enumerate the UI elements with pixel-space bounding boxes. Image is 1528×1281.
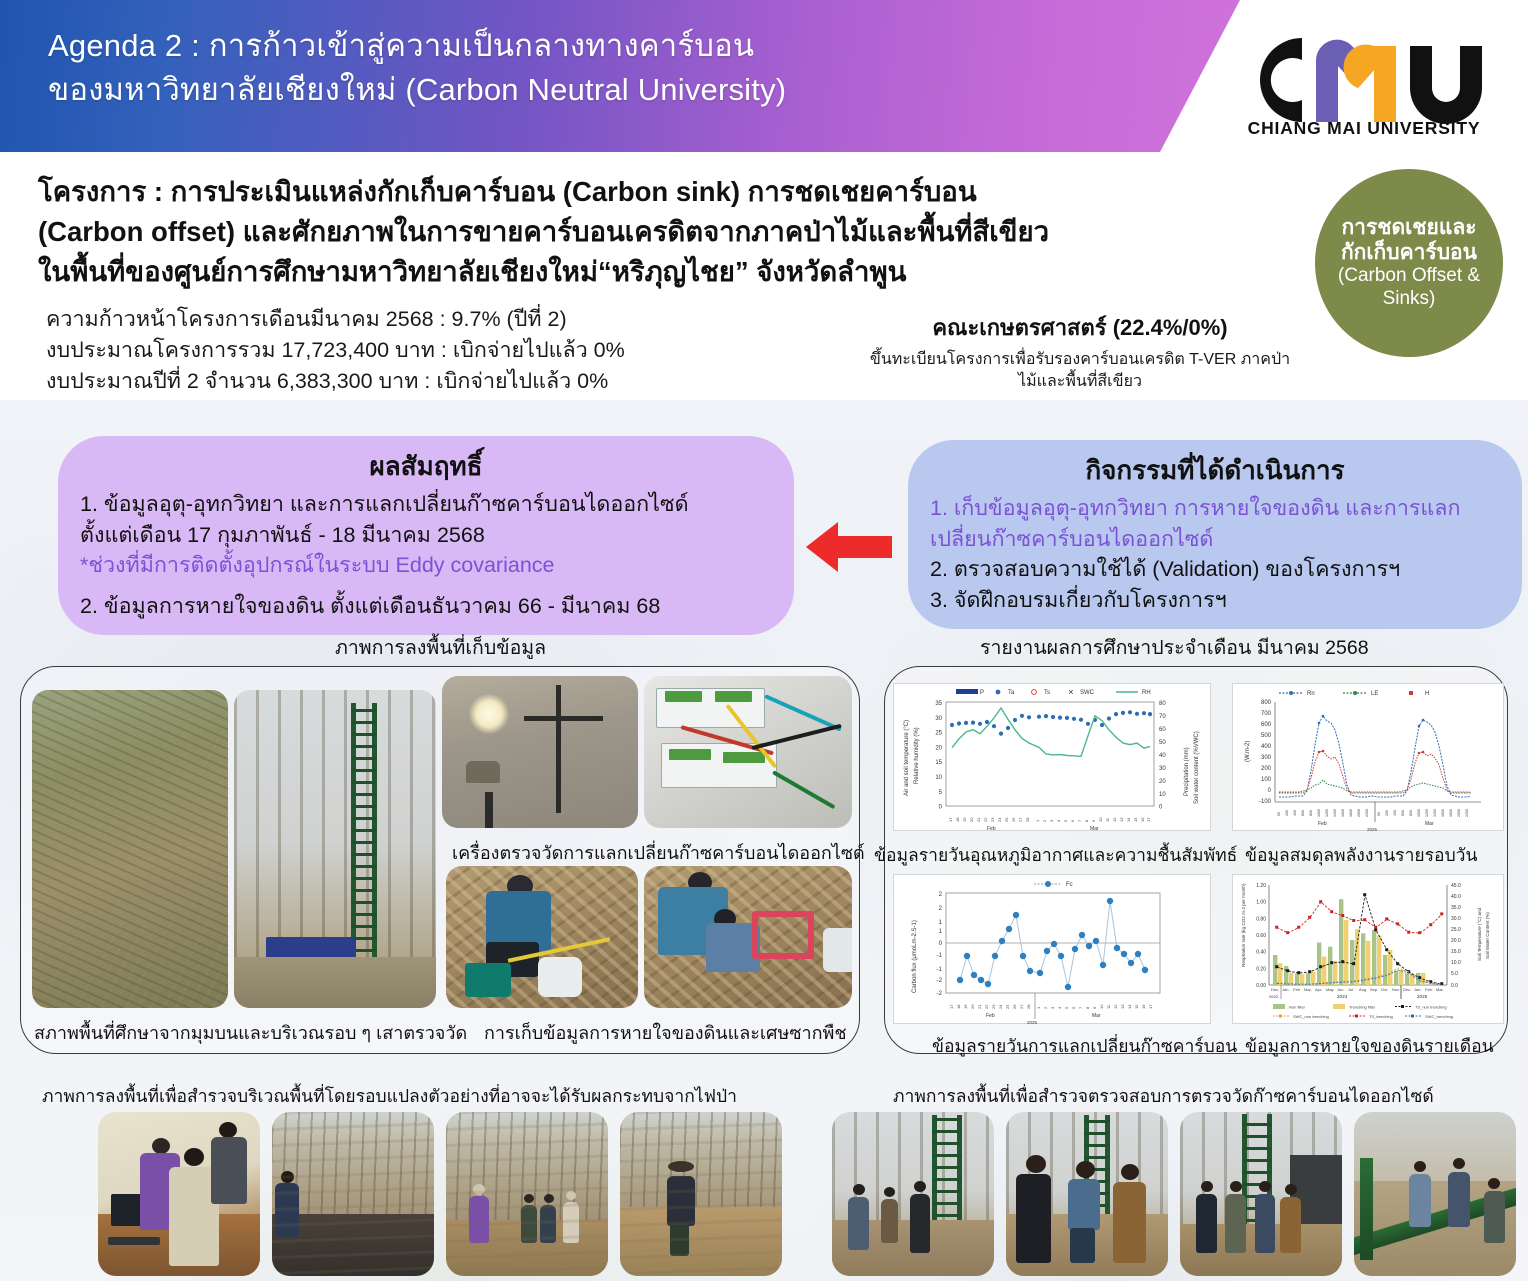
svg-text:2: 2 — [1042, 819, 1047, 822]
figure-legs — [670, 1224, 689, 1256]
photo-forest-walk — [620, 1112, 782, 1276]
svg-text:28: 28 — [1026, 1004, 1031, 1009]
svg-text:21: 21 — [976, 817, 981, 822]
figure-head — [219, 1122, 237, 1138]
activity-box: กิจกรรมที่ได้ดำเนินการ 1. เก็บข้อมูลอุตุ… — [908, 440, 1522, 629]
sensor-pole-shape — [556, 685, 561, 813]
sensor-post-shape — [485, 792, 493, 828]
badge-th-line2: กักเก็บคาร์บอน — [1341, 240, 1477, 265]
faculty-block: คณะเกษตรศาสตร์ (22.4%/0%) ขึ้นทะเบียนโคร… — [830, 310, 1330, 394]
project-total-budget: งบประมาณโครงการรวม 17,723,400 บาท : เบิก… — [46, 335, 866, 366]
activity-line1: 1. เก็บข้อมูลอุตุ-อุทกวิทยา การหายใจของด… — [930, 493, 1500, 524]
svg-text:0.00: 0.00 — [1256, 983, 1266, 989]
figure-body — [469, 1196, 489, 1243]
svg-text:14: 14 — [1126, 817, 1131, 822]
results-heading: ผลสัมฤทธิ์ — [80, 446, 772, 487]
svg-text:2025: 2025 — [1027, 1020, 1038, 1025]
page-title-line2: ของมหาวิทยาลัยเชียงใหม่ (Carbon Neutral … — [48, 68, 1128, 112]
wire-green — [772, 771, 835, 810]
svg-text:12: 12 — [1112, 817, 1117, 822]
svg-text:1: 1 — [939, 920, 943, 926]
svg-text:SWC: SWC — [1080, 690, 1095, 696]
svg-text:3: 3 — [1050, 1006, 1055, 1009]
figure-legs — [1070, 1228, 1096, 1263]
page-title: Agenda 2 : การก้าวเข้าสู่ความเป็นกลางทาง… — [48, 24, 1128, 112]
svg-text:Mar: Mar — [1090, 826, 1099, 832]
svg-text:800: 800 — [1309, 810, 1313, 816]
group-figure-d — [1280, 1184, 1303, 1253]
svg-text:100: 100 — [1261, 777, 1272, 783]
svg-text:45.0: 45.0 — [1451, 883, 1461, 889]
bucket-white — [823, 928, 852, 972]
svg-text:20: 20 — [935, 745, 942, 751]
chart-temp-rh-card: P Ta Ts ✕SWC RH 35 30 25 20 15 10 5 0 80… — [893, 683, 1211, 831]
svg-text:-2: -2 — [937, 991, 943, 997]
svg-text:Ts: Ts — [1044, 690, 1050, 696]
svg-text:11: 11 — [1105, 817, 1110, 822]
svg-text:1000: 1000 — [1317, 809, 1321, 817]
figure-head — [1121, 1164, 1139, 1180]
svg-text:20: 20 — [1159, 779, 1166, 785]
svg-text:1400: 1400 — [1333, 809, 1337, 817]
figure-body — [1409, 1174, 1431, 1226]
activity-line2: เปลี่ยนก๊าซคาร์บอนไดออกไซด์ — [930, 524, 1500, 555]
svg-text:35: 35 — [935, 701, 942, 707]
svg-text:Feb.: Feb. — [1425, 987, 1433, 992]
svg-text:12: 12 — [1113, 1004, 1118, 1009]
svg-text:10: 10 — [935, 775, 942, 781]
svg-text:400: 400 — [1293, 810, 1297, 816]
svg-text:Rn: Rn — [1307, 691, 1315, 697]
results-line2: ตั้งแต่เดือน 17 กุมภาพันธ์ - 18 มีนาคม 2… — [80, 520, 772, 551]
terminal-strip-c — [669, 749, 711, 760]
svg-text:22: 22 — [984, 1004, 989, 1009]
surveyor-figure-d — [563, 1191, 581, 1243]
figure-head — [853, 1184, 865, 1195]
svg-text:300: 300 — [1261, 755, 1272, 761]
svg-text:200: 200 — [1385, 810, 1389, 816]
svg-text:Feb: Feb — [1318, 821, 1327, 827]
project-year2-budget: งบประมาณปีที่ 2 จำนวน 6,383,300 บาท : เบ… — [46, 366, 866, 397]
project-progress: ความก้าวหน้าโครงการเดือนมีนาคม 2568 : 9.… — [46, 304, 866, 335]
figure-body — [1280, 1197, 1300, 1253]
figure-backpack — [667, 1176, 695, 1225]
svg-text:-2: -2 — [937, 978, 943, 984]
svg-text:16: 16 — [1140, 817, 1145, 822]
svg-text:May.: May. — [1326, 987, 1334, 992]
carbon-offset-badge: การชดเชยและ กักเก็บคาร์บอน (Carbon Offse… — [1315, 169, 1503, 357]
activity-heading: กิจกรรมที่ได้ดำเนินการ — [930, 450, 1500, 491]
svg-text:10: 10 — [1159, 792, 1166, 798]
terminal-strip-d — [723, 752, 765, 763]
group-figure-c — [1255, 1181, 1278, 1253]
svg-text:400: 400 — [1393, 810, 1397, 816]
svg-text:600: 600 — [1301, 810, 1305, 816]
svg-text:H: H — [1425, 691, 1429, 697]
svg-text:5: 5 — [1064, 1006, 1069, 1009]
svg-text:11: 11 — [1106, 1004, 1111, 1009]
svg-text:Dec.: Dec. — [1271, 987, 1279, 992]
figure-head — [1488, 1178, 1500, 1189]
photo-caption-soil: การเก็บข้อมูลการหายใจของดินและเศษซากพืช — [484, 1018, 847, 1047]
figure-body — [275, 1183, 298, 1237]
svg-text:15: 15 — [1134, 1004, 1139, 1009]
figure-body — [1225, 1194, 1245, 1253]
svg-text:Nov.: Nov. — [1392, 987, 1400, 992]
svg-text:Jun.: Jun. — [1337, 987, 1345, 992]
svg-text:Sep.: Sep. — [1370, 987, 1378, 992]
svg-text:30.0: 30.0 — [1451, 916, 1461, 922]
sun-glow-shape — [469, 694, 509, 734]
svg-text:Soil water content (%VWC): Soil water content (%VWC) — [1194, 731, 1200, 804]
photo-datalogger-cabinet — [644, 676, 852, 828]
results-line4-plain: 2. ข้อมูลการหายใจของดิน ตั้งแต่เดือน — [80, 594, 431, 618]
figure-head — [1285, 1184, 1297, 1195]
svg-text:6: 6 — [1070, 819, 1075, 822]
svg-text:15: 15 — [1133, 817, 1138, 822]
terminal-strip-a — [665, 691, 702, 702]
svg-text:27: 27 — [1018, 817, 1023, 822]
figure-body — [563, 1202, 579, 1243]
svg-text:500: 500 — [1261, 733, 1272, 739]
svg-text:Soil Temperature (°C) and: Soil Temperature (°C) and — [1477, 907, 1482, 961]
svg-text:5: 5 — [1063, 819, 1068, 822]
analyzer-chamber-white — [538, 957, 582, 997]
svg-text:10.0: 10.0 — [1451, 960, 1461, 966]
svg-text:17: 17 — [948, 817, 953, 822]
svg-text:2: 2 — [939, 892, 943, 898]
trainee-figure-3 — [211, 1122, 250, 1204]
svg-text:26: 26 — [1012, 1004, 1017, 1009]
figure-head — [281, 1171, 294, 1183]
svg-text:1.20: 1.20 — [1256, 883, 1266, 889]
visitor-figure-b — [881, 1187, 900, 1243]
photo-burned-forest — [272, 1112, 434, 1276]
svg-text:7: 7 — [1077, 819, 1082, 822]
page-header: Agenda 2 : การก้าวเข้าสู่ความเป็นกลางทาง… — [0, 0, 1528, 152]
svg-text:✕: ✕ — [1068, 690, 1074, 697]
svg-text:30: 30 — [935, 716, 942, 722]
svg-text:13: 13 — [1119, 817, 1124, 822]
figure-head — [914, 1181, 926, 1192]
svg-text:24: 24 — [997, 817, 1002, 822]
project-summary-section: โครงการ : การประเมินแหล่งกักเก็บคาร์บอน … — [0, 152, 1528, 400]
visitor-figure-c — [910, 1181, 933, 1253]
activity-line3: 2. ตรวจสอบความใช้ได้ (Validation) ของโคร… — [930, 554, 1500, 585]
svg-text:200: 200 — [1261, 766, 1272, 772]
svg-text:800: 800 — [1261, 700, 1272, 706]
svg-text:Mar: Mar — [1425, 821, 1434, 827]
svg-text:P: P — [980, 690, 984, 696]
results-line3: *ช่วงที่มีการติดตั้งอุปกรณ์ในระบบ Eddy c… — [80, 550, 772, 581]
svg-text:Soil Water Content (%): Soil Water Content (%) — [1485, 912, 1490, 959]
svg-text:1000: 1000 — [1417, 809, 1421, 817]
svg-text:26: 26 — [1011, 817, 1016, 822]
svg-text:13: 13 — [1120, 1004, 1125, 1009]
activity-line4: 3. จัดฝึกอบรมเกี่ยวกับโครงการฯ — [930, 585, 1500, 616]
figure-head — [1259, 1181, 1271, 1192]
svg-text:1600: 1600 — [1441, 809, 1445, 817]
svg-text:Aug.: Aug. — [1359, 987, 1367, 992]
svg-text:0.40: 0.40 — [1256, 950, 1266, 956]
figure-hat — [668, 1161, 694, 1172]
project-title-line3: ในพื้นที่ของศูนย์การศึกษามหาวิทยาลัยเชีย… — [38, 252, 1300, 292]
svg-text:Trenching filter: Trenching filter — [1349, 1005, 1376, 1010]
chart-caption-carbon-flux: ข้อมูลรายวันการแลกเปลี่ยนก๊าซคาร์บอน — [932, 1032, 1237, 1060]
svg-text:-1: -1 — [937, 967, 943, 973]
visitor-figure-b — [1068, 1161, 1104, 1263]
figure-head — [566, 1191, 576, 1200]
project-title-line2: (Carbon offset) และศักยภาพในการขายคาร์บอ… — [38, 212, 1300, 252]
svg-text:7: 7 — [1078, 1006, 1083, 1009]
svg-text:2: 2 — [939, 906, 943, 912]
figure-head — [1076, 1161, 1095, 1178]
svg-text:10: 10 — [1098, 817, 1103, 822]
chart-carbon-flux-svg: Fc 2 2 1 1 0 -1 -1 -2 -2 Carbon flux (μm… — [894, 875, 1212, 1025]
analyzer-case-teal — [465, 963, 511, 997]
chart-caption-temp-rh: ข้อมูลรายวันอุณหภูมิอากาศและความชื้นสัมพ… — [874, 841, 1237, 869]
svg-text:17: 17 — [949, 1004, 954, 1009]
figure-head — [473, 1184, 485, 1195]
svg-text:Feb.: Feb. — [1293, 987, 1301, 992]
svg-text:16: 16 — [1141, 1004, 1146, 1009]
group-figure-a — [1196, 1181, 1219, 1253]
figure-head — [544, 1194, 554, 1203]
visitor-figure-a — [848, 1184, 871, 1250]
burnt-ground — [272, 1214, 434, 1276]
hiker-figure — [665, 1161, 701, 1256]
svg-text:0.0: 0.0 — [1451, 983, 1458, 989]
svg-text:1800: 1800 — [1449, 809, 1453, 817]
svg-text:Respiration rate (kg CO2 m-2 p: Respiration rate (kg CO2 m-2 per month) — [1241, 883, 1246, 967]
svg-text:2000: 2000 — [1357, 809, 1361, 817]
svg-text:20: 20 — [969, 817, 974, 822]
svg-text:00: 00 — [1377, 812, 1381, 816]
svg-text:4: 4 — [1056, 819, 1061, 822]
svg-text:0: 0 — [939, 805, 943, 811]
photo-eddy-sensor-sky — [442, 676, 638, 828]
svg-text:TS_non trenching: TS_non trenching — [1415, 1005, 1447, 1010]
svg-text:1.00: 1.00 — [1256, 900, 1266, 906]
svg-text:24: 24 — [998, 1004, 1003, 1009]
project-title: โครงการ : การประเมินแหล่งกักเก็บคาร์บอน … — [38, 172, 1300, 292]
svg-text:Mar.: Mar. — [1304, 987, 1312, 992]
svg-text:2200: 2200 — [1365, 809, 1369, 817]
figure-body — [881, 1199, 898, 1244]
surveyor-figure-c — [540, 1194, 558, 1243]
results-line4: 2. ข้อมูลการหายใจของดิน ตั้งแต่เดือนธันว… — [80, 591, 772, 622]
badge-en-line2: Sinks) — [1383, 288, 1436, 311]
visitor-figure-a — [1016, 1155, 1055, 1263]
figure-head — [884, 1187, 895, 1197]
sensor-dome-shape — [466, 761, 500, 783]
figure-head — [524, 1194, 534, 1203]
bottom-caption-left: ภาพการลงพื้นที่เพื่อสำรวจบริเวณพื้นที่โด… — [42, 1082, 737, 1110]
figure-head — [1414, 1161, 1426, 1172]
svg-text:70: 70 — [1159, 714, 1166, 720]
chart-caption-energy-balance: ข้อมูลสมดุลพลังงานรายรอบวัน — [1245, 841, 1477, 869]
chart-soil-respiration-card: 1.20 1.00 0.80 0.60 0.40 0.20 0.00 45.04… — [1232, 874, 1504, 1024]
svg-text:Oct.: Oct. — [1381, 987, 1388, 992]
svg-text:50: 50 — [1159, 740, 1166, 746]
chart-caption-soil-respiration: ข้อมูลการหายใจของดินรายเดือน — [1245, 1032, 1494, 1060]
figure-body — [1068, 1179, 1101, 1230]
svg-text:17: 17 — [1148, 1004, 1153, 1009]
figure-body — [910, 1194, 930, 1253]
svg-text:SWC_trenching: SWC_trenching — [1425, 1014, 1453, 1019]
svg-text:80: 80 — [1159, 701, 1166, 707]
svg-text:8: 8 — [1085, 1006, 1090, 1009]
figure-head — [1026, 1155, 1046, 1173]
svg-text:21: 21 — [977, 1004, 982, 1009]
svg-text:14: 14 — [1127, 1004, 1132, 1009]
svg-text:2: 2 — [1043, 1006, 1048, 1009]
svg-text:27: 27 — [1019, 1004, 1024, 1009]
svg-text:Feb: Feb — [986, 1013, 995, 1019]
svg-text:2025: 2025 — [1417, 994, 1428, 999]
svg-text:5: 5 — [939, 790, 943, 796]
svg-text:(W.m-2): (W.m-2) — [1245, 741, 1251, 762]
svg-text:20.0: 20.0 — [1451, 938, 1461, 944]
svg-text:10: 10 — [1099, 1004, 1104, 1009]
figure-body — [1255, 1194, 1275, 1253]
svg-text:8: 8 — [1084, 819, 1089, 822]
results-line1: 1. ข้อมูลอุตุ-อุทกวิทยา และการแลกเปลี่ยน… — [80, 489, 772, 520]
svg-text:6: 6 — [1071, 1006, 1076, 1009]
svg-text:60: 60 — [1159, 727, 1166, 733]
group-figure-b — [1225, 1181, 1248, 1253]
visitor-figure-c — [1113, 1164, 1149, 1262]
svg-text:15: 15 — [935, 760, 942, 766]
figure-body — [211, 1137, 247, 1204]
svg-text:Jul.: Jul. — [1348, 987, 1354, 992]
figure-body — [848, 1197, 868, 1249]
svg-text:Feb: Feb — [987, 826, 996, 832]
photo-caption-site: สภาพพื้นที่ศึกษาจากมุมบนและบริเวณรอบ ๆ เ… — [34, 1018, 467, 1047]
figure-body — [540, 1205, 556, 1243]
results-line4-accent: ธันวาคม 66 - มีนาคม 68 — [431, 594, 660, 618]
figure-body — [1113, 1182, 1146, 1263]
svg-text:18: 18 — [956, 1004, 961, 1009]
svg-text:Relative humidity (%): Relative humidity (%) — [914, 727, 920, 784]
cmu-logo-subtitle: CHIANG MAI UNIVERSITY — [1224, 118, 1504, 139]
figure-head — [1453, 1158, 1465, 1169]
svg-text:TS_trenching: TS_trenching — [1369, 1014, 1393, 1019]
svg-text:Dec.: Dec. — [1403, 987, 1411, 992]
photo-training-session — [98, 1112, 260, 1276]
sampling-frame-red — [752, 911, 814, 959]
svg-text:0: 0 — [939, 941, 943, 947]
svg-text:25: 25 — [1004, 817, 1009, 822]
svg-text:Carbon flux (μmoLm-2.S-1): Carbon flux (μmoLm-2.S-1) — [912, 920, 918, 993]
svg-text:19: 19 — [962, 817, 967, 822]
chart-energy-balance-card: Rn LE H 800 700 600 500 400 300 200 100 … — [1232, 683, 1504, 831]
photo-forest-group-survey — [446, 1112, 608, 1276]
tower-mast-shape — [351, 703, 377, 976]
svg-text:Fc: Fc — [1066, 882, 1073, 888]
svg-text:23: 23 — [990, 817, 995, 822]
svg-text:1: 1 — [1036, 1006, 1041, 1009]
badge-en-line1: (Carbon Offset & — [1338, 265, 1480, 288]
svg-text:Air and soil temperature (°C): Air and soil temperature (°C) — [904, 720, 910, 796]
svg-text:0.60: 0.60 — [1256, 933, 1266, 939]
figure-head — [1230, 1181, 1242, 1192]
chart-energy-balance-svg: Rn LE H 800 700 600 500 400 300 200 100 … — [1233, 684, 1505, 832]
svg-text:Jan.: Jan. — [1414, 987, 1422, 992]
page-title-line1: Agenda 2 : การก้าวเข้าสู่ความเป็นกลางทาง… — [48, 24, 1128, 68]
figure-head — [184, 1148, 204, 1166]
surveyor-figure-a — [469, 1184, 492, 1243]
svg-text:18: 18 — [955, 817, 960, 822]
svg-text:Ta: Ta — [1008, 690, 1015, 696]
svg-text:0: 0 — [1268, 788, 1272, 794]
svg-text:2000: 2000 — [1457, 809, 1461, 817]
section-caption-photos: ภาพการลงพื้นที่เก็บข้อมูล — [335, 632, 546, 663]
svg-text:2025: 2025 — [1367, 827, 1378, 832]
svg-text:1200: 1200 — [1425, 809, 1429, 817]
leaf-ground — [446, 1220, 608, 1276]
project-title-line1: โครงการ : การประเมินแหล่งกักเก็บคาร์บอน … — [38, 172, 1300, 212]
figure-body — [1016, 1174, 1052, 1263]
faculty-note-line1: ขึ้นทะเบียนโครงการเพื่อรับรองคาร์บอนเครด… — [870, 351, 1290, 368]
inspector-figure-c — [1484, 1178, 1508, 1244]
bottom-caption-right: ภาพการลงพื้นที่เพื่อสำรวจตรวจสอบการตรวจว… — [893, 1082, 1434, 1110]
svg-text:1200: 1200 — [1325, 809, 1329, 817]
svg-text:20: 20 — [970, 1004, 975, 1009]
svg-text:200: 200 — [1285, 810, 1289, 816]
leaf-ground — [620, 1207, 782, 1276]
svg-text:-1: -1 — [937, 953, 943, 959]
svg-text:35.0: 35.0 — [1451, 905, 1461, 911]
chart-carbon-flux-card: Fc 2 2 1 1 0 -1 -1 -2 -2 Carbon flux (μm… — [893, 874, 1211, 1024]
faculty-note-line2: ไม้และพื้นที่สีเขียว — [1018, 373, 1142, 390]
terminal-strip-b — [715, 691, 752, 702]
photo-measurement-tower — [234, 690, 436, 1008]
figure-head — [1201, 1181, 1213, 1192]
svg-text:RH: RH — [1142, 690, 1151, 696]
figure-body — [1448, 1172, 1470, 1227]
svg-text:Mar.: Mar. — [1436, 987, 1444, 992]
figure-body — [521, 1205, 537, 1243]
figure-body — [1196, 1194, 1216, 1253]
svg-text:9: 9 — [1091, 819, 1096, 822]
svg-text:40: 40 — [1159, 753, 1166, 759]
photo-aerial-site — [32, 690, 228, 1008]
photo-tower-group — [1180, 1112, 1342, 1276]
svg-text:23: 23 — [991, 1004, 996, 1009]
svg-text:Precipitation (mm): Precipitation (mm) — [1184, 747, 1190, 796]
green-steel-beam-vertical — [1360, 1158, 1373, 1260]
section-caption-report: รายงานผลการศึกษาประจำเดือน มีนาคม 2568 — [980, 632, 1369, 663]
svg-text:40.0: 40.0 — [1451, 894, 1461, 900]
badge-th-line1: การชดเชยและ — [1341, 215, 1476, 240]
photo-tower-visit-1 — [832, 1112, 994, 1276]
sensor-arm-shape — [524, 716, 602, 721]
faculty-title: คณะเกษตรศาสตร์ (22.4%/0%) — [830, 310, 1330, 345]
chart-temp-rh-svg: P Ta Ts ✕SWC RH 35 30 25 20 15 10 5 0 80… — [894, 684, 1212, 832]
svg-text:30: 30 — [1159, 766, 1166, 772]
chart-soil-respiration-svg: 1.20 1.00 0.80 0.60 0.40 0.20 0.00 45.04… — [1233, 875, 1505, 1025]
svg-text:1600: 1600 — [1341, 809, 1345, 817]
laptop-base — [108, 1237, 160, 1245]
svg-text:5.0: 5.0 — [1451, 971, 1458, 977]
photo-soil-respiration-right — [644, 866, 852, 1008]
svg-text:2024: 2024 — [1337, 994, 1348, 999]
svg-text:Apr.: Apr. — [1315, 987, 1322, 992]
photo-caption-sensor: เครื่องตรวจวัดการแลกเปลี่ยนก๊าซคาร์บอนได… — [452, 838, 865, 867]
faculty-note: ขึ้นทะเบียนโครงการเพื่อรับรองคาร์บอนเครด… — [830, 349, 1330, 394]
svg-text:600: 600 — [1261, 722, 1272, 728]
